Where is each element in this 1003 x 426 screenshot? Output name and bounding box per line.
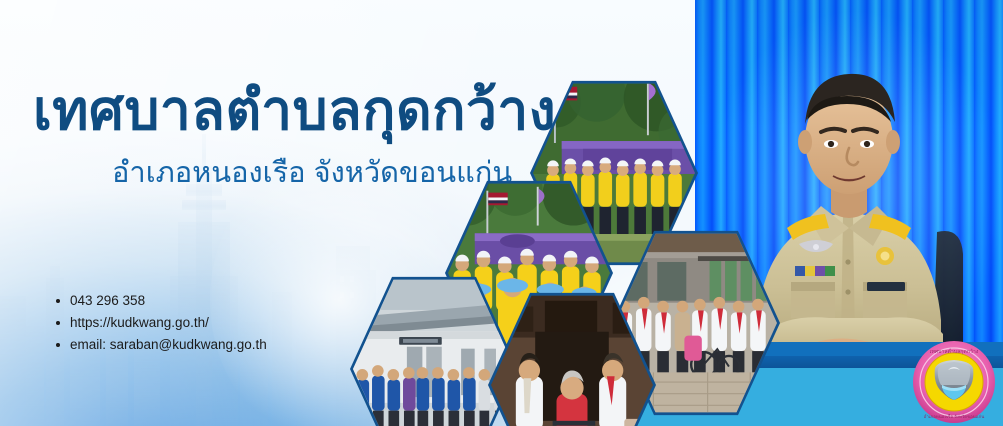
contact-email[interactable]: email: saraban@kudkwang.go.th bbox=[55, 334, 267, 356]
contact-list: 043 296 358 https://kudkwang.go.th/ emai… bbox=[55, 290, 267, 356]
contact-phone[interactable]: 043 296 358 bbox=[55, 290, 267, 312]
contact-website[interactable]: https://kudkwang.go.th/ bbox=[55, 312, 267, 334]
svg-text:อำเภอหนองเรือ จังหวัดขอนแก่น: อำเภอหนองเรือ จังหวัดขอนแก่น bbox=[924, 413, 985, 419]
hexagon-photo-collage bbox=[340, 78, 740, 398]
municipal-seal: เทศบาลตำบลกุดกว้าง อำเภอหนองเรือ จังหวัด… bbox=[912, 340, 996, 424]
municipality-banner: เทศบาลตำบลกุดกว้าง อำเภอหนองเรือ จังหวัด… bbox=[0, 0, 1003, 426]
svg-text:เทศบาลตำบลกุดกว้าง: เทศบาลตำบลกุดกว้าง bbox=[930, 348, 979, 355]
